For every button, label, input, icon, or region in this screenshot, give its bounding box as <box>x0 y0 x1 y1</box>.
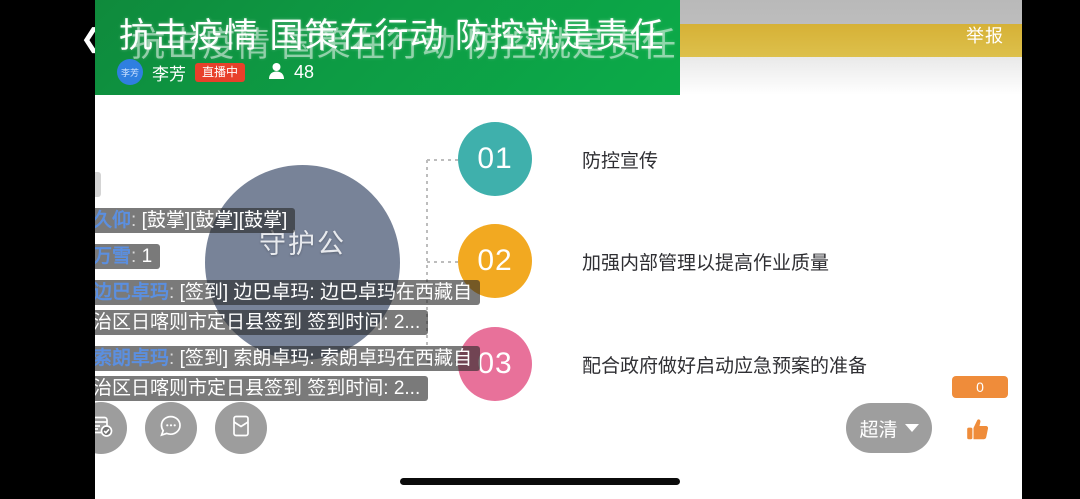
live-title: 抗击疫情 国策在行动 防控就是责任 <box>119 8 665 57</box>
chat-sender-name: 久仰 <box>95 210 131 231</box>
home-indicator <box>400 478 680 485</box>
chevron-down-icon <box>905 424 919 432</box>
avatar-initials: 李芳 <box>121 66 139 79</box>
chat-button[interactable] <box>145 402 197 454</box>
slide-item-03: 03 配合政府做好启动应急预案的准备 <box>458 327 867 401</box>
chat-separator: : <box>169 282 180 303</box>
like-count-badge: 0 <box>952 376 1008 398</box>
chat-message-bubble: 索朗卓玛: [签到] 索朗卓玛: 索朗卓玛在西藏自治区日喀则市定日县签到 签到时… <box>95 346 480 401</box>
list-item: 索朗卓玛: [签到] 索朗卓玛: 索朗卓玛在西藏自治区日喀则市定日县签到 签到时… <box>95 344 487 404</box>
chat-separator: : <box>131 246 142 267</box>
live-header: 抗击疫情 国策在行动 防控就是责任 抗击疫情 国策在行动 防控就是责任 李芳 李… <box>95 0 680 95</box>
chat-separator: : <box>169 348 180 369</box>
live-title-wrap: 抗击疫情 国策在行动 防控就是责任 抗击疫情 国策在行动 防控就是责任 <box>119 8 659 58</box>
quality-label: 超清 <box>859 415 897 442</box>
slide-item-03-label: 配合政府做好启动应急预案的准备 <box>582 351 867 378</box>
avatar[interactable]: 李芳 <box>117 59 143 85</box>
live-meta-row: 李芳 李芳 直播中 48 <box>117 58 314 86</box>
person-icon <box>268 62 285 83</box>
chat-sender-name: 索朗卓玛 <box>95 348 169 369</box>
list-item: 边巴卓玛: [签到] 边巴卓玛: 边巴卓玛在西藏自治区日喀则市定日县签到 签到时… <box>95 278 487 338</box>
chat-overlay: 久仰: [鼓掌][鼓掌][鼓掌] 万雪: 1 边巴卓玛: [签到] 边巴卓玛: … <box>95 170 507 410</box>
list-item <box>95 170 487 200</box>
chat-message-bubble: 万雪: 1 <box>95 244 160 269</box>
chat-separator: : <box>131 210 142 231</box>
slide-item-02-label: 加强内部管理以提高作业质量 <box>582 248 829 275</box>
chat-message-bubble: 边巴卓玛: [签到] 边巴卓玛: 边巴卓玛在西藏自治区日喀则市定日县签到 签到时… <box>95 280 480 335</box>
chat-message-bubble <box>95 172 101 197</box>
list-item: 万雪: 1 <box>95 242 487 272</box>
thumbs-up-icon <box>964 416 992 449</box>
like-button[interactable] <box>950 404 1006 460</box>
host-name: 李芳 <box>152 60 186 85</box>
status-badge: 直播中 <box>195 63 245 82</box>
chat-bubble-icon <box>158 413 184 444</box>
chat-sender-name: 边巴卓玛 <box>95 282 169 303</box>
slide-item-01-label: 防控宣传 <box>582 146 658 173</box>
like-count: 0 <box>976 379 984 395</box>
quality-selector[interactable]: 超清 <box>846 403 932 453</box>
chat-message-bubble: 久仰: [鼓掌][鼓掌][鼓掌] <box>95 208 295 233</box>
slide-item-02: 02 加强内部管理以提高作业质量 <box>458 224 829 298</box>
list-item: 久仰: [鼓掌][鼓掌][鼓掌] <box>95 206 487 236</box>
letterbox-left <box>0 0 95 499</box>
card-envelope-icon <box>228 413 254 444</box>
chat-sender-name: 万雪 <box>95 246 131 267</box>
bottom-control-row <box>75 402 267 454</box>
live-stream-screen: 守护公 01 防控宣传 02 加强内部管理以提高作业质量 03 <box>0 0 1080 499</box>
chat-message-text: 1 <box>142 246 153 267</box>
report-button[interactable]: 举报 <box>966 22 1004 48</box>
viewer-count: 48 <box>294 62 314 83</box>
card-button[interactable] <box>215 402 267 454</box>
letterbox-right <box>1022 0 1080 499</box>
chat-message-text: [鼓掌][鼓掌][鼓掌] <box>142 210 288 231</box>
